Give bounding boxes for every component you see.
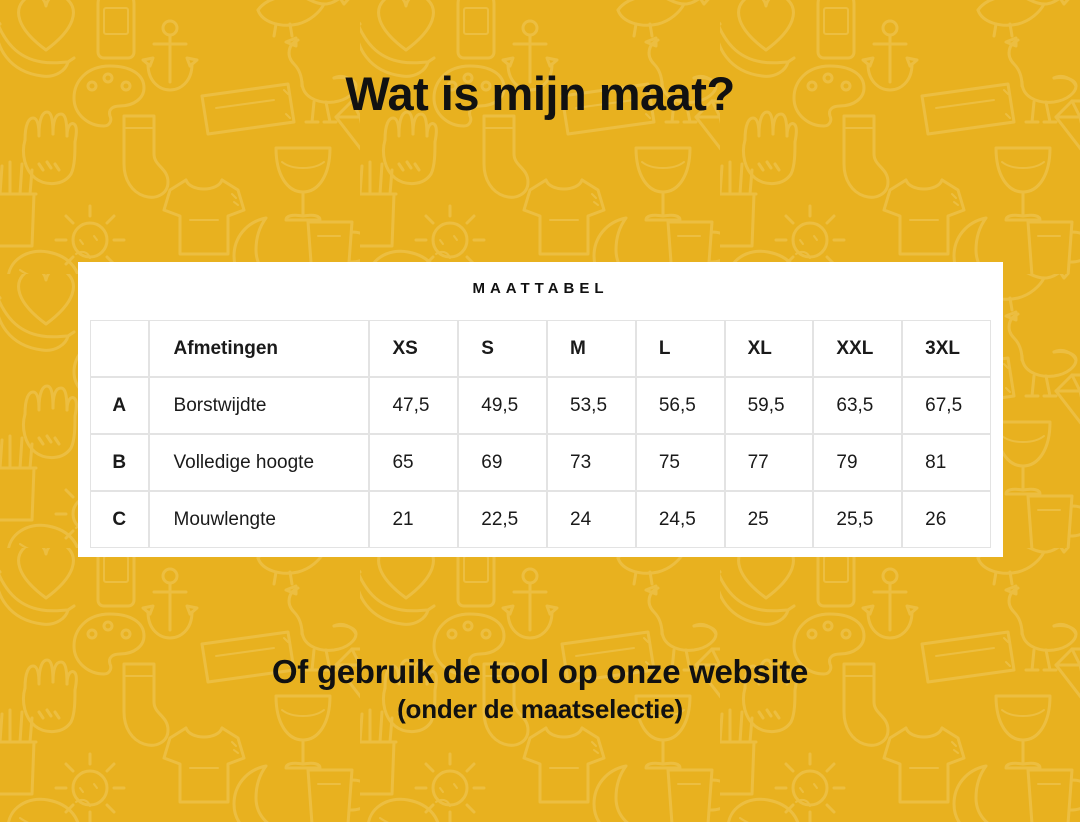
row-key: C <box>90 491 149 548</box>
size-table: Afmetingen XS S M L XL XXL 3XL A Borstwi… <box>90 320 991 548</box>
column-header-s: S <box>458 320 547 377</box>
page-root: Wat is mijn maat? MAATTABEL Afmetingen X… <box>0 0 1080 822</box>
cell-xl: 59,5 <box>725 377 814 434</box>
cell-l: 56,5 <box>636 377 725 434</box>
column-header-m: M <box>547 320 636 377</box>
cell-xs: 21 <box>369 491 458 548</box>
page-title: Wat is mijn maat? <box>345 68 734 120</box>
cell-xxl: 25,5 <box>813 491 902 548</box>
cell-xl: 77 <box>725 434 814 491</box>
column-header-xs: XS <box>369 320 458 377</box>
cell-xl: 25 <box>725 491 814 548</box>
row-label: Borstwijdte <box>149 377 370 434</box>
footer: Of gebruik de tool op onze website (onde… <box>0 652 1080 727</box>
column-header-l: L <box>636 320 725 377</box>
row-label: Mouwlengte <box>149 491 370 548</box>
column-header-xxl: XXL <box>813 320 902 377</box>
cell-xxl: 79 <box>813 434 902 491</box>
cell-s: 69 <box>458 434 547 491</box>
size-chart-card: MAATTABEL Afmetingen XS S M L XL XXL 3XL… <box>78 262 1003 557</box>
card-title: MAATTABEL <box>78 262 1003 297</box>
row-key: A <box>90 377 149 434</box>
footer-secondary-text: (onder de maatselectie) <box>0 692 1080 727</box>
cell-xs: 47,5 <box>369 377 458 434</box>
table-row: C Mouwlengte 21 22,5 24 24,5 25 25,5 26 <box>90 491 991 548</box>
footer-primary-text: Of gebruik de tool op onze website <box>0 652 1080 692</box>
row-key: B <box>90 434 149 491</box>
column-header-3xl: 3XL <box>902 320 991 377</box>
table-header: Afmetingen XS S M L XL XXL 3XL <box>90 320 991 377</box>
column-header-xl: XL <box>725 320 814 377</box>
cell-m: 53,5 <box>547 377 636 434</box>
cell-3xl: 81 <box>902 434 991 491</box>
cell-m: 24 <box>547 491 636 548</box>
cell-l: 24,5 <box>636 491 725 548</box>
table-row: B Volledige hoogte 65 69 73 75 77 79 81 <box>90 434 991 491</box>
column-header-key <box>90 320 149 377</box>
table-row: A Borstwijdte 47,5 49,5 53,5 56,5 59,5 6… <box>90 377 991 434</box>
cell-s: 49,5 <box>458 377 547 434</box>
cell-l: 75 <box>636 434 725 491</box>
cell-s: 22,5 <box>458 491 547 548</box>
cell-xs: 65 <box>369 434 458 491</box>
cell-xxl: 63,5 <box>813 377 902 434</box>
row-label: Volledige hoogte <box>149 434 370 491</box>
cell-m: 73 <box>547 434 636 491</box>
column-header-label: Afmetingen <box>149 320 370 377</box>
cell-3xl: 67,5 <box>902 377 991 434</box>
table-header-row: Afmetingen XS S M L XL XXL 3XL <box>90 320 991 377</box>
cell-3xl: 26 <box>902 491 991 548</box>
table-body: A Borstwijdte 47,5 49,5 53,5 56,5 59,5 6… <box>90 377 991 548</box>
